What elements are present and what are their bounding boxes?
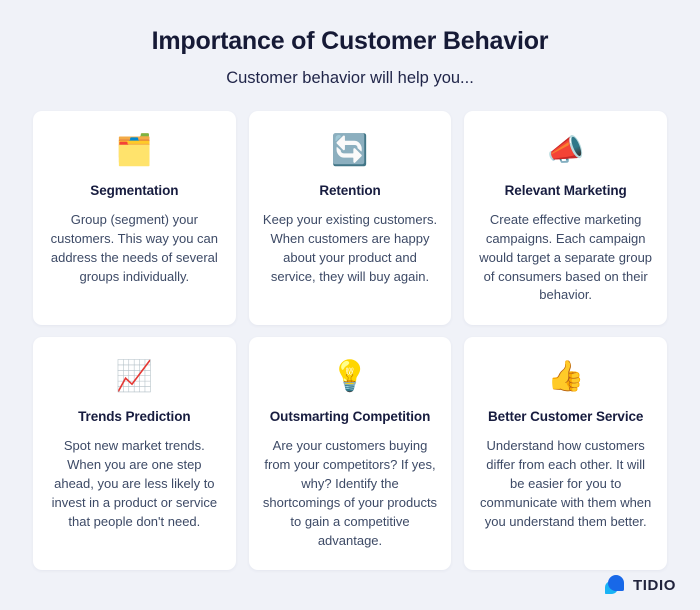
card-body: Create effective marketing campaigns. Ea… bbox=[478, 211, 653, 305]
card-body: Keep your existing customers. When custo… bbox=[263, 211, 438, 286]
megaphone-icon: 📣 bbox=[547, 133, 584, 169]
card-title: Outsmarting Competition bbox=[270, 409, 430, 425]
header: Importance of Customer Behavior Customer… bbox=[0, 0, 700, 89]
page-title: Importance of Customer Behavior bbox=[0, 26, 700, 56]
card-segmentation: 🗂️ Segmentation Group (segment) your cus… bbox=[33, 111, 236, 325]
card-title: Segmentation bbox=[90, 183, 178, 199]
card-title: Relevant Marketing bbox=[505, 183, 627, 199]
card-relevant-marketing: 📣 Relevant Marketing Create effective ma… bbox=[464, 111, 667, 325]
card-title: Retention bbox=[319, 183, 380, 199]
card-body: Group (segment) your customers. This way… bbox=[47, 211, 222, 286]
card-body: Spot new market trends. When you are one… bbox=[47, 437, 222, 531]
chart-increasing-icon: 📈 bbox=[116, 359, 153, 395]
infographic-page: Importance of Customer Behavior Customer… bbox=[0, 0, 700, 610]
card-title: Trends Prediction bbox=[78, 409, 190, 425]
brand-footer: TIDIO bbox=[604, 574, 676, 596]
tidio-logo-icon bbox=[604, 574, 626, 596]
card-trends-prediction: 📈 Trends Prediction Spot new market tren… bbox=[33, 337, 236, 570]
thumbs-up-icon: 👍 bbox=[547, 359, 584, 395]
card-outsmarting-competition: 💡 Outsmarting Competition Are your custo… bbox=[249, 337, 452, 570]
card-title: Better Customer Service bbox=[488, 409, 643, 425]
brand-name: TIDIO bbox=[633, 577, 676, 594]
counterclockwise-arrows-icon: 🔄 bbox=[331, 133, 368, 169]
card-body: Understand how customers differ from eac… bbox=[478, 437, 653, 531]
card-index-dividers-icon: 🗂️ bbox=[116, 133, 153, 169]
cards-grid: 🗂️ Segmentation Group (segment) your cus… bbox=[33, 111, 667, 571]
card-retention: 🔄 Retention Keep your existing customers… bbox=[249, 111, 452, 325]
light-bulb-icon: 💡 bbox=[331, 359, 368, 395]
card-body: Are your customers buying from your comp… bbox=[263, 437, 438, 550]
logo-blob-front bbox=[608, 575, 624, 591]
page-subtitle: Customer behavior will help you... bbox=[0, 69, 700, 89]
card-better-customer-service: 👍 Better Customer Service Understand how… bbox=[464, 337, 667, 570]
